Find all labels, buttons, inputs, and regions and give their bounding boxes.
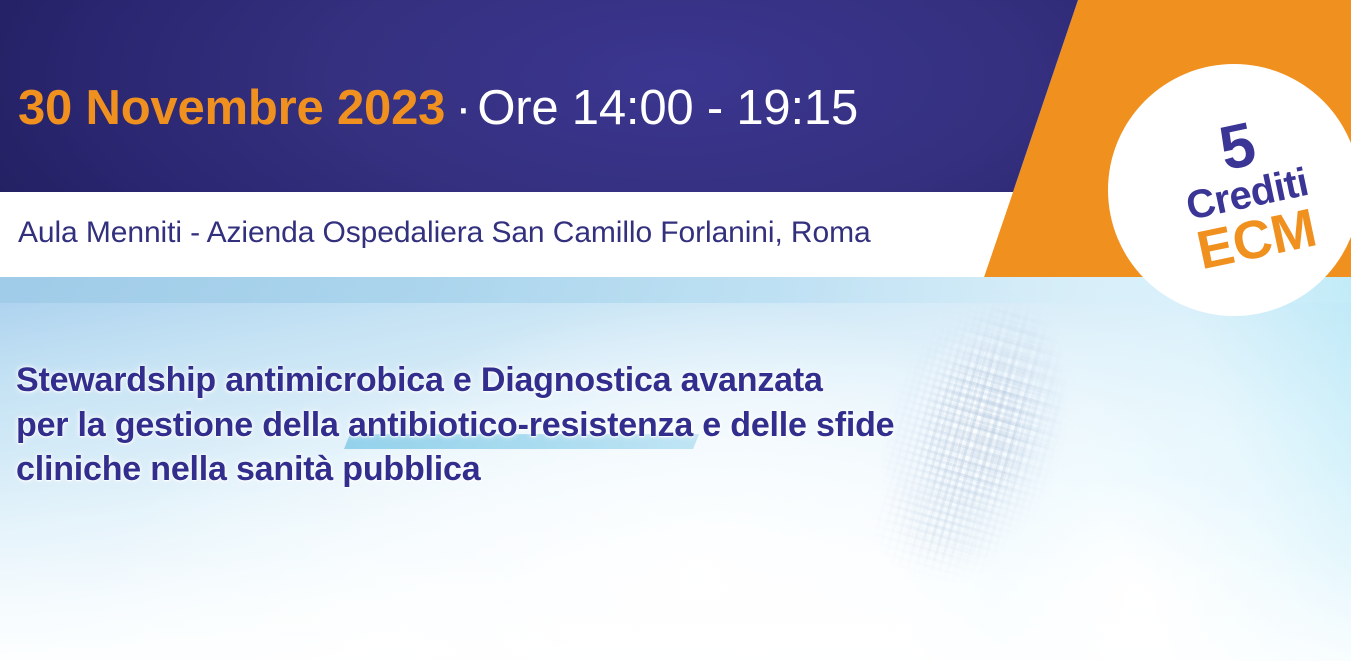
event-datetime: 30 Novembre 2023·Ore 14:00 - 19:15 <box>18 84 858 133</box>
title-highlight-text: antibiotico-resistenza <box>348 406 693 444</box>
title-highlight-wrapper: antibiotico-resistenza <box>348 403 693 448</box>
title-line-2-suffix: e delle sfide <box>693 406 894 444</box>
datetime-separator: · <box>445 81 477 135</box>
event-venue: Aula Menniti - Azienda Ospedaliera San C… <box>18 218 871 248</box>
event-date: 30 Novembre 2023 <box>18 81 445 135</box>
ecm-credits-number: 5 <box>1215 116 1260 179</box>
title-line-3: cliniche nella sanità pubblica <box>16 447 1246 492</box>
event-time: Ore 14:00 - 19:15 <box>477 81 858 135</box>
title-line-1: Stewardship antimicrobica e Diagnostica … <box>16 358 1246 403</box>
event-title: Stewardship antimicrobica e Diagnostica … <box>16 358 1246 492</box>
title-line-2: per la gestione della antibiotico-resist… <box>16 403 1246 448</box>
title-line-2-prefix: per la gestione della <box>16 406 348 444</box>
event-banner: 30 Novembre 2023·Ore 14:00 - 19:15 Aula … <box>0 0 1351 661</box>
ecm-credits-badge: 5 Crediti ECM <box>1108 64 1351 316</box>
